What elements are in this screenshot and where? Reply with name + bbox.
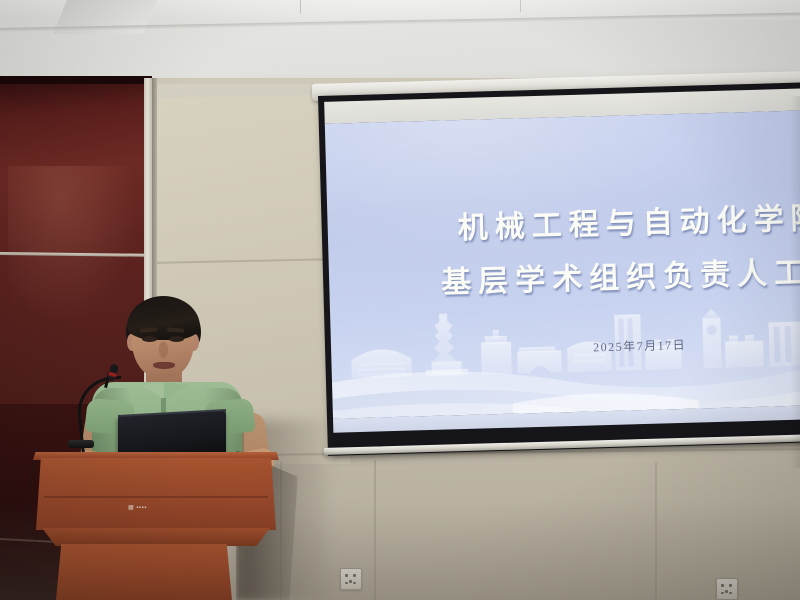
microphone-base <box>68 440 94 448</box>
podium-groove <box>44 496 268 498</box>
projection-screen: 机械工程与自动化学院 基层学术组织负责人工作 2025年7月17日 <box>318 82 800 468</box>
slide-title: 机械工程与自动化学院 基层学术组织负责人工作 <box>457 196 800 304</box>
laptop[interactable] <box>118 411 226 459</box>
podium-column <box>56 544 232 600</box>
speaker-hair <box>127 296 200 340</box>
ceiling-seam <box>520 0 521 12</box>
conference-room-photo: 机械工程与自动化学院 基层学术组织负责人工作 2025年7月17日 <box>0 0 800 600</box>
podium-mid-trim <box>42 528 270 546</box>
projected-slide: 机械工程与自动化学院 基层学术组织负责人工作 2025年7月17日 <box>325 110 800 418</box>
slide-date: 2025年7月17日 <box>593 336 686 356</box>
screen-right-edge <box>790 96 800 468</box>
nose <box>159 342 168 358</box>
ceiling-seam <box>300 0 301 14</box>
podium-emblem: ▦ ▪▪▪▪ <box>128 504 162 513</box>
mouth <box>153 362 175 369</box>
wood-panel-top-trim <box>0 76 152 84</box>
cityscape-watermark-icon <box>330 285 800 418</box>
eye <box>142 336 157 342</box>
podium-front-panel <box>36 458 276 530</box>
eye <box>169 336 184 342</box>
